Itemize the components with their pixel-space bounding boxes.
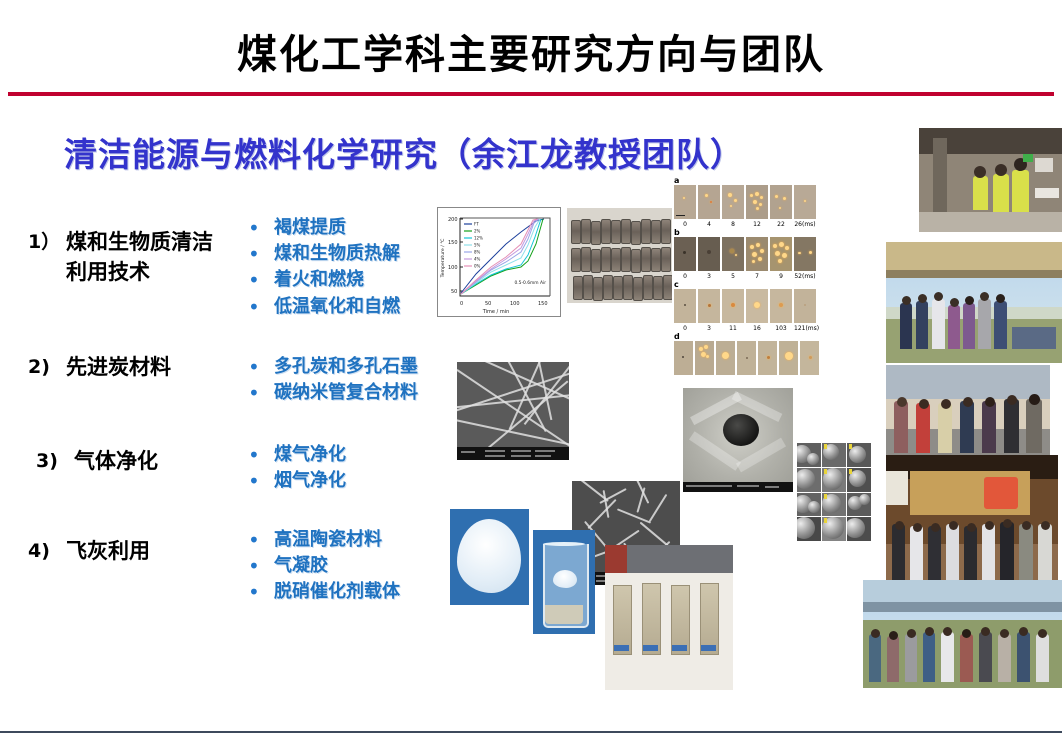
combustion-frame [674, 185, 696, 219]
bullet-label: 气凝胶 [274, 554, 328, 577]
combustion-row-b-times: 0 3 5 7 9 52(ms) [674, 273, 816, 280]
bullet-dot-icon: • [244, 268, 274, 293]
topic-index: 2) [28, 353, 66, 382]
bullet-label: 碳纳米管复合材料 [274, 381, 418, 404]
time-label: 5 [722, 273, 744, 280]
combustion-frame [794, 185, 816, 219]
bullet-row: • 烟气净化 [244, 469, 346, 494]
topic-label: 煤和生物质清洁利用技术 [66, 228, 226, 288]
bullet-dot-icon: • [244, 469, 274, 494]
combustion-frame [794, 289, 816, 323]
lab-rig-photo [919, 128, 1062, 232]
ash-frame [847, 443, 871, 467]
ash-frame [797, 468, 821, 492]
combustion-frame [674, 289, 696, 323]
ash-frame [822, 468, 846, 492]
ash-frame [847, 517, 871, 541]
bullet-row: • 高温陶瓷材料 [244, 528, 400, 553]
bullet-row: • 着火和燃烧 [244, 268, 400, 293]
svg-text:Temperature / ℃: Temperature / ℃ [440, 239, 446, 279]
topic-item-2: 2) 先进炭材料 [28, 353, 226, 383]
group-photo-outdoor-shade [886, 242, 1062, 363]
bullet-row: • 低温氧化和自燃 [244, 295, 400, 320]
combustion-row-letter: c [674, 280, 679, 289]
bullet-dot-icon: • [244, 355, 274, 380]
combustion-row-a-times: 0 4 8 12 22 26(ms) [674, 221, 816, 228]
bullet-row: • 碳纳米管复合材料 [244, 381, 418, 406]
bullet-dot-icon: • [244, 216, 274, 241]
bullet-row: • 煤和生物质热解 [244, 242, 400, 267]
combustion-row-d [674, 341, 819, 375]
page-title: 煤化工学科主要研究方向与团队 [0, 22, 1062, 80]
time-label: 9 [770, 273, 792, 280]
time-label: 26(ms) [794, 221, 816, 228]
fly-ash-sem-grid [797, 443, 871, 541]
bullet-group-2: • 多孔炭和多孔石墨 • 碳纳米管复合材料 [244, 355, 418, 407]
combustion-frame [779, 341, 798, 375]
svg-text:150: 150 [448, 240, 458, 246]
nanoparticle-tem [683, 388, 793, 492]
time-label: 22 [770, 221, 792, 228]
combustion-frame [722, 289, 744, 323]
coal-pellets-photo [567, 208, 673, 303]
combustion-frame [716, 341, 735, 375]
combustion-row-letter: b [674, 228, 680, 237]
time-label: 7 [746, 273, 768, 280]
bullet-label: 脱硝催化剂载体 [274, 580, 400, 603]
combustion-frame [746, 289, 768, 323]
time-label: 4 [698, 221, 720, 228]
svg-text:150: 150 [538, 301, 548, 307]
combustion-frame [770, 185, 792, 219]
time-label: 16 [746, 325, 768, 332]
bullet-label: 烟气净化 [274, 469, 346, 492]
bullet-row: • 脱硝催化剂载体 [244, 580, 400, 605]
combustion-row-c-times: 0 3 11 16 103 121(ms) [674, 325, 816, 332]
slide-root: 煤化工学科主要研究方向与团队 清洁能源与燃料化学研究（余江龙教授团队） 1） 煤… [0, 0, 1062, 733]
ash-frame [822, 493, 846, 517]
time-label: 3 [698, 273, 720, 280]
combustion-frame [695, 341, 714, 375]
combustion-row-a [674, 185, 816, 219]
ash-frame [822, 443, 846, 467]
tem-nanoparticle [723, 414, 759, 446]
bullet-row: • 气凝胶 [244, 554, 400, 579]
aerogel-beaker-photo [533, 530, 595, 634]
combustion-frame [674, 341, 693, 375]
chart-svg: 200 150 100 50 0 50 100 150 Time / min T… [438, 208, 560, 316]
bullet-row: • 煤气净化 [244, 443, 346, 468]
bullet-label: 多孔炭和多孔石墨 [274, 355, 418, 378]
topic-item-3: 3) 气体净化 [36, 447, 234, 477]
bullet-group-3: • 煤气净化 • 烟气净化 [244, 443, 346, 495]
topic-label: 气体净化 [74, 447, 234, 477]
group-photo-coast [863, 580, 1062, 688]
group-photo-indoor-lab [886, 365, 1050, 459]
combustion-frame [770, 237, 792, 271]
topic-label: 飞灰利用 [66, 537, 226, 567]
topic-item-4: 4) 飞灰利用 [28, 537, 226, 567]
combustion-frame [722, 185, 744, 219]
topic-index: 3) [36, 447, 74, 476]
combustion-frame [698, 289, 720, 323]
bullet-dot-icon: • [244, 554, 274, 579]
bullet-label: 煤和生物质热解 [274, 242, 400, 265]
ash-frame [822, 517, 846, 541]
ceramic-bars-photo [605, 545, 733, 690]
combustion-frame [758, 341, 777, 375]
bullet-dot-icon: • [244, 580, 274, 605]
combustion-frame [698, 237, 720, 271]
time-label: 103 [770, 325, 792, 332]
time-label: 0 [674, 273, 696, 280]
combustion-frame [800, 341, 819, 375]
svg-text:0.5-0.6mm Air: 0.5-0.6mm Air [514, 280, 546, 286]
svg-text:2%: 2% [474, 229, 481, 234]
svg-text:50: 50 [451, 289, 457, 295]
topic-index: 4) [28, 537, 66, 566]
time-label: 3 [698, 325, 720, 332]
svg-text:8%: 8% [474, 250, 481, 255]
title-divider [8, 92, 1054, 96]
heating-rate-chart: 200 150 100 50 0 50 100 150 Time / min T… [437, 207, 561, 317]
svg-text:0: 0 [460, 301, 463, 307]
bullet-dot-icon: • [244, 528, 274, 553]
svg-text:100: 100 [448, 265, 458, 271]
combustion-frame [722, 237, 744, 271]
svg-text:100: 100 [510, 301, 520, 307]
svg-text:50: 50 [485, 301, 491, 307]
bullet-group-1: • 褐煤提质 • 煤和生物质热解 • 着火和燃烧 • 低温氧化和自燃 [244, 216, 400, 321]
time-label: 52(ms) [794, 273, 816, 280]
bullet-dot-icon: • [244, 295, 274, 320]
time-label: 121(ms) [794, 325, 816, 332]
svg-text:FT: FT [474, 222, 479, 227]
svg-text:5%: 5% [474, 243, 481, 248]
combustion-row-c [674, 289, 816, 323]
ash-frame [847, 493, 871, 517]
ash-frame [797, 443, 821, 467]
combustion-frame [746, 237, 768, 271]
time-label: 8 [722, 221, 744, 228]
svg-text:4%: 4% [474, 257, 481, 262]
combustion-sequence-panel: a [672, 176, 830, 376]
time-label: 0 [674, 221, 696, 228]
combustion-frame [746, 185, 768, 219]
bullet-label: 高温陶瓷材料 [274, 528, 382, 551]
combustion-frame [737, 341, 756, 375]
bullet-row: • 褐煤提质 [244, 216, 400, 241]
time-label: 12 [746, 221, 768, 228]
svg-text:Time / min: Time / min [482, 309, 510, 315]
svg-text:200: 200 [448, 217, 458, 223]
tem-data-bar [683, 482, 793, 492]
combustion-row-letter: a [674, 176, 679, 185]
ash-frame [847, 468, 871, 492]
bullet-dot-icon: • [244, 443, 274, 468]
time-label: 0 [674, 325, 696, 332]
carbon-nanofiber-sem [457, 362, 569, 460]
bullet-dot-icon: • [244, 242, 274, 267]
group-photo-conference [886, 455, 1058, 588]
sem-data-bar [457, 447, 569, 460]
bullet-dot-icon: • [244, 381, 274, 406]
bullet-group-4: • 高温陶瓷材料 • 气凝胶 • 脱硝催化剂载体 [244, 528, 400, 607]
combustion-row-b [674, 237, 816, 271]
svg-text:12%: 12% [474, 236, 483, 241]
combustion-frame [698, 185, 720, 219]
combustion-row-letter: d [674, 332, 680, 341]
time-label: 11 [722, 325, 744, 332]
ash-frame [797, 493, 821, 517]
topic-label: 先进炭材料 [66, 353, 226, 383]
bullet-label: 着火和燃烧 [274, 268, 364, 291]
bullet-label: 低温氧化和自燃 [274, 295, 400, 318]
combustion-frame [794, 237, 816, 271]
section-subtitle: 清洁能源与燃料化学研究（余江龙教授团队） [64, 128, 744, 176]
combustion-frame [674, 237, 696, 271]
combustion-frame [770, 289, 792, 323]
bullet-label: 褐煤提质 [274, 216, 346, 239]
aerogel-powder-photo [450, 509, 529, 605]
topic-index: 1） [28, 228, 66, 257]
bullet-row: • 多孔炭和多孔石墨 [244, 355, 418, 380]
svg-text:0%: 0% [474, 264, 481, 269]
ash-frame [797, 517, 821, 541]
topic-item-1: 1） 煤和生物质清洁利用技术 [28, 228, 226, 288]
bullet-label: 煤气净化 [274, 443, 346, 466]
